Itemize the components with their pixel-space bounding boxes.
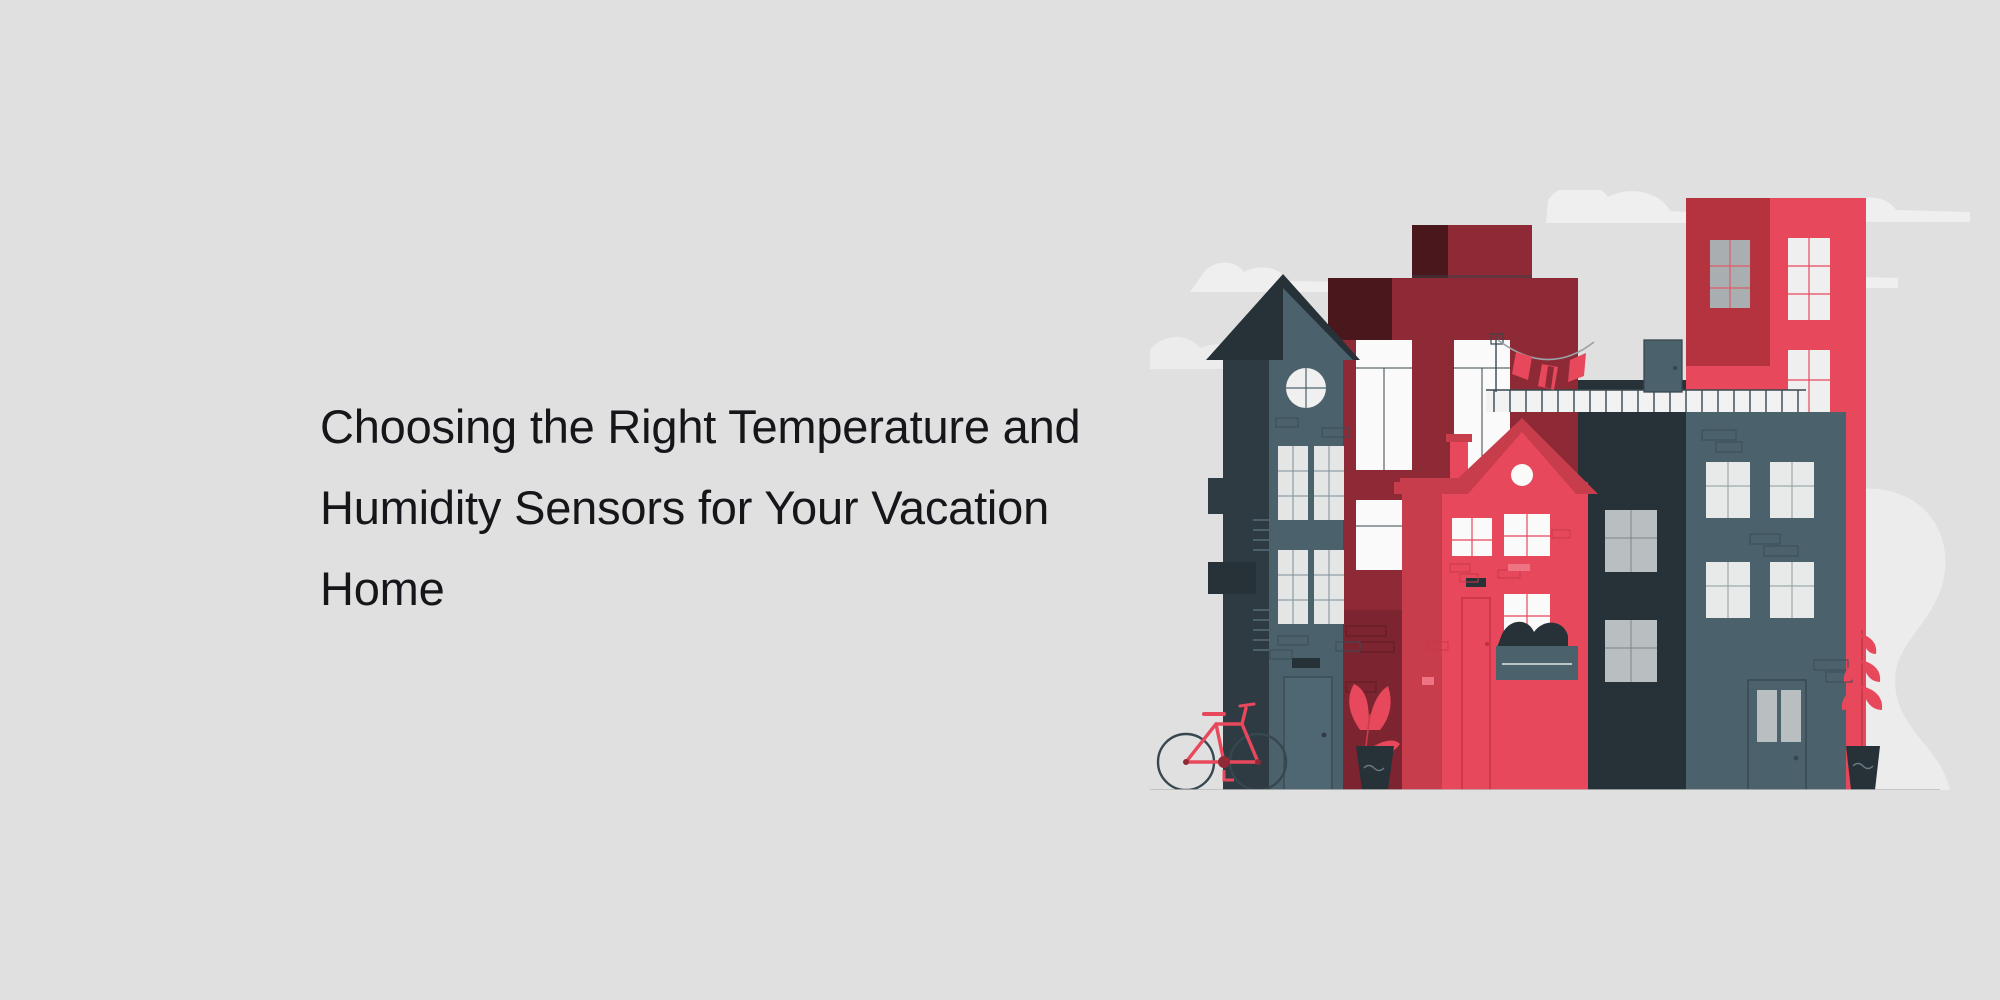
maroon-tower <box>1412 225 1532 279</box>
cloud-top-left-icon <box>1190 263 1350 292</box>
cloud-top-right-icon <box>1546 190 1706 223</box>
page-root: Choosing the Right Temperature and Humid… <box>0 0 2000 1000</box>
city-houses-illustration <box>1150 190 1970 790</box>
navy-gable-house <box>1206 274 1360 790</box>
page-title: Choosing the Right Temperature and Humid… <box>320 386 1150 629</box>
headline-block: Choosing the Right Temperature and Humid… <box>320 386 1150 629</box>
dark-apartment-block <box>1578 380 1686 790</box>
slate-apartment-block <box>1686 412 1852 790</box>
